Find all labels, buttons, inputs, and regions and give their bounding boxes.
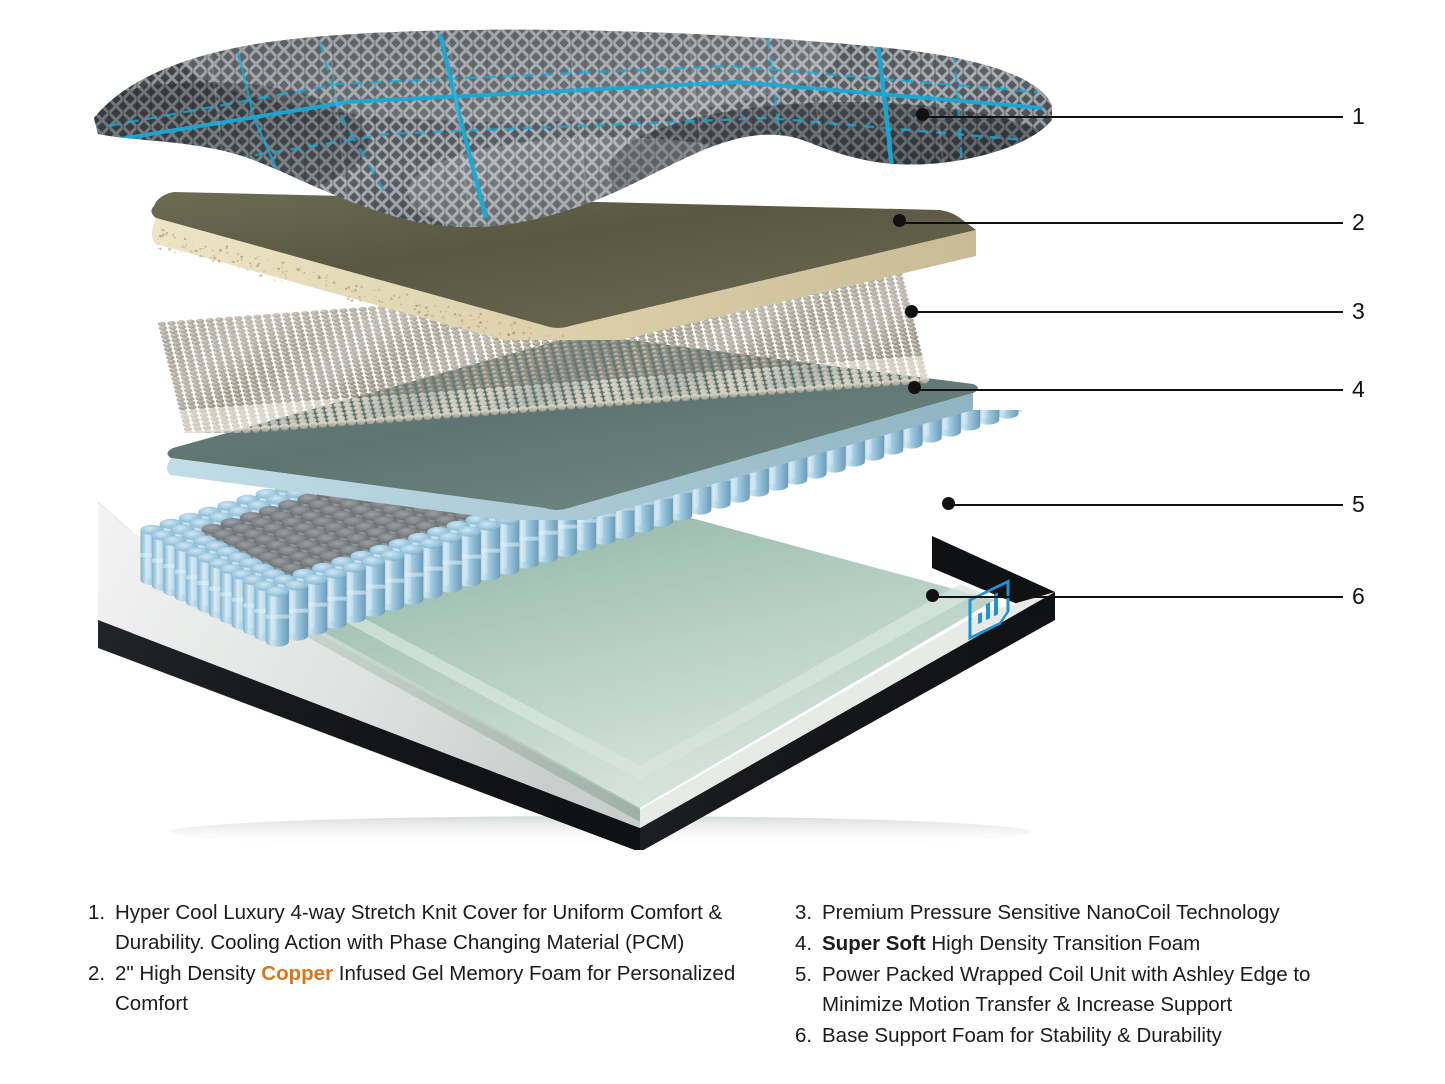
legend-item-number: 2.: [88, 959, 115, 989]
legend-item-text: Base Support Foam for Stability & Durabi…: [822, 1021, 1395, 1051]
legend-text-segment: High Density Transition Foam: [926, 932, 1201, 955]
legend-highlight-bold: Super Soft: [822, 932, 926, 955]
legend-item: 6.Base Support Foam for Stability & Dura…: [795, 1021, 1395, 1051]
legend-text-segment: Hyper Cool Luxury 4-way Stretch Knit Cov…: [115, 901, 722, 954]
callout-number-3: 3: [1352, 300, 1365, 323]
legend-item: 3.Premium Pressure Sensitive NanoCoil Te…: [795, 898, 1395, 928]
legend-item-number: 3.: [795, 898, 822, 928]
callout-leader-4: [914, 389, 1343, 391]
layer-knit-cover: [88, 22, 1058, 237]
callout-number-1: 1: [1352, 105, 1365, 128]
callout-number-6: 6: [1352, 585, 1365, 608]
legend-item-text: Power Packed Wrapped Coil Unit with Ashl…: [822, 960, 1395, 1020]
legend-highlight-copper: Copper: [261, 962, 333, 985]
legend-item-text: Super Soft High Density Transition Foam: [822, 929, 1395, 959]
legend-item: 4.Super Soft High Density Transition Foa…: [795, 929, 1395, 959]
legend-text-segment: Premium Pressure Sensitive NanoCoil Tech…: [822, 901, 1280, 924]
legend: 1.Hyper Cool Luxury 4-way Stretch Knit C…: [0, 898, 1445, 1078]
callout-leader-6: [932, 596, 1343, 598]
callout-leader-1: [922, 116, 1343, 118]
legend-item-text: Premium Pressure Sensitive NanoCoil Tech…: [822, 898, 1395, 928]
legend-item-number: 4.: [795, 929, 822, 959]
callout-dot-4: [908, 381, 921, 394]
legend-column-right: 3.Premium Pressure Sensitive NanoCoil Te…: [795, 898, 1395, 1052]
legend-item-text: 2" High Density Copper Infused Gel Memor…: [115, 959, 788, 1019]
callout-number-2: 2: [1352, 211, 1365, 234]
legend-item: 1.Hyper Cool Luxury 4-way Stretch Knit C…: [88, 898, 788, 958]
legend-item-number: 5.: [795, 960, 822, 990]
legend-text-segment: Base Support Foam for Stability & Durabi…: [822, 1024, 1222, 1047]
legend-item-number: 6.: [795, 1021, 822, 1051]
callout-number-5: 5: [1352, 493, 1365, 516]
callout-number-4: 4: [1352, 378, 1365, 401]
legend-item: 2.2" High Density Copper Infused Gel Mem…: [88, 959, 788, 1019]
mattress-diagram: 123456 1.Hyper Cool Luxury 4-way Stretch…: [0, 0, 1445, 1084]
callout-leader-3: [911, 311, 1343, 313]
legend-item-text: Hyper Cool Luxury 4-way Stretch Knit Cov…: [115, 898, 788, 958]
legend-text-segment: Power Packed Wrapped Coil Unit with Ashl…: [822, 963, 1310, 1016]
callout-leader-2: [899, 222, 1343, 224]
legend-item: 5.Power Packed Wrapped Coil Unit with As…: [795, 960, 1395, 1020]
callout-dot-1: [916, 108, 929, 121]
legend-column-left: 1.Hyper Cool Luxury 4-way Stretch Knit C…: [88, 898, 788, 1020]
legend-text-segment: 2" High Density: [115, 962, 261, 985]
callout-dot-2: [893, 214, 906, 227]
legend-item-number: 1.: [88, 898, 115, 928]
callout-leader-5: [948, 504, 1343, 506]
